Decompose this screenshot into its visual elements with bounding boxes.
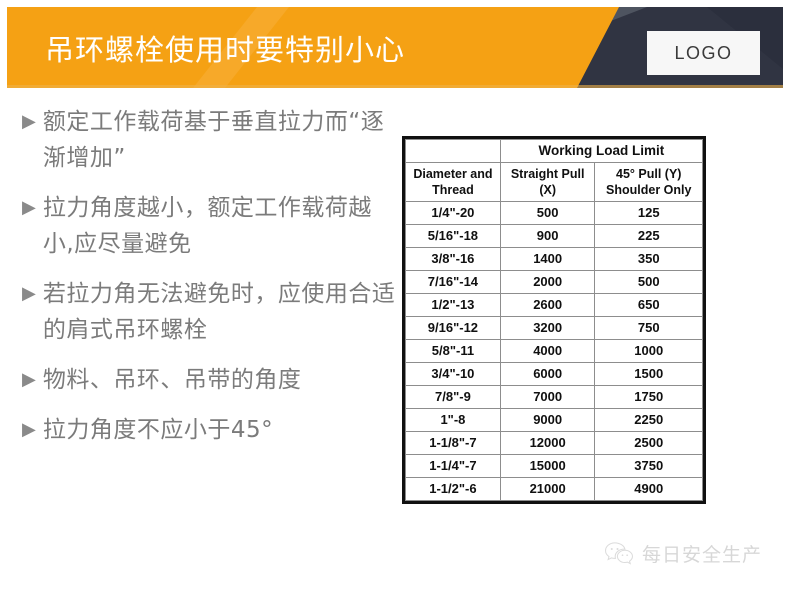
cell-straight-pull: 12000 [500,432,595,455]
table-group-header: Working Load Limit [500,140,702,163]
bullet-text: 若拉力角无法避免时，应使用合适的肩式吊环螺栓 [43,276,397,348]
table-row: 1-1/2"-6 21000 4900 [406,478,703,501]
cell-straight-pull: 900 [500,225,595,248]
cell-45-pull: 2250 [595,409,703,432]
table-row: 1-1/4"-7 15000 3750 [406,455,703,478]
table-row: 9/16"-12 3200 750 [406,317,703,340]
bullet-triangle-icon: ▶ [22,412,36,446]
cell-diameter: 3/8"-16 [406,248,501,271]
column-header-line: Thread [406,182,500,198]
list-item: ▶ 物料、吊环、吊带的角度 [22,362,397,398]
column-header-45-pull-shoulder: 45° Pull (Y) Shoulder Only [595,163,703,202]
bullet-text: 物料、吊环、吊带的角度 [43,362,397,398]
table-blank-cell [406,140,501,163]
cell-45-pull: 2500 [595,432,703,455]
cell-straight-pull: 21000 [500,478,595,501]
column-header-line: Straight Pull [501,166,595,182]
cell-45-pull: 650 [595,294,703,317]
bullet-text: 拉力角度越小，额定工作载荷越小,应尽量避免 [43,190,397,262]
logo-label: LOGO [674,43,732,64]
cell-diameter: 7/16"-14 [406,271,501,294]
cell-diameter: 3/4"-10 [406,363,501,386]
table-row: 5/8"-11 4000 1000 [406,340,703,363]
table-row: 3/8"-16 1400 350 [406,248,703,271]
table-row: 1/4"-20 500 125 [406,202,703,225]
cell-straight-pull: 3200 [500,317,595,340]
list-item: ▶ 额定工作载荷基于垂直拉力而“逐渐增加” [22,104,397,176]
column-header-line: Diameter and [406,166,500,182]
cell-diameter: 1-1/2"-6 [406,478,501,501]
table-row: 7/8"-9 7000 1750 [406,386,703,409]
table-column-header-row: Diameter and Thread Straight Pull (X) 45… [406,163,703,202]
bullet-triangle-icon: ▶ [22,362,36,396]
cell-straight-pull: 9000 [500,409,595,432]
cell-diameter: 1"-8 [406,409,501,432]
cell-diameter: 1-1/8"-7 [406,432,501,455]
slide-root: 吊环螺栓使用时要特别小心 LOGO ▶ 额定工作载荷基于垂直拉力而“逐渐增加” … [0,0,790,594]
table-row: 1"-8 9000 2250 [406,409,703,432]
cell-straight-pull: 7000 [500,386,595,409]
cell-diameter: 7/8"-9 [406,386,501,409]
header-banner: 吊环螺栓使用时要特别小心 LOGO [7,7,783,88]
cell-45-pull: 4900 [595,478,703,501]
list-item: ▶ 若拉力角无法避免时，应使用合适的肩式吊环螺栓 [22,276,397,348]
column-header-line: (X) [501,182,595,198]
cell-45-pull: 350 [595,248,703,271]
page-title: 吊环螺栓使用时要特别小心 [45,27,405,69]
cell-diameter: 1/2"-13 [406,294,501,317]
wechat-icon [604,541,634,567]
watermark-text: 每日安全生产 [642,540,762,567]
cell-45-pull: 1000 [595,340,703,363]
cell-45-pull: 500 [595,271,703,294]
bullet-triangle-icon: ▶ [22,104,36,138]
column-header-diameter-thread: Diameter and Thread [406,163,501,202]
cell-45-pull: 3750 [595,455,703,478]
footer-watermark: 每日安全生产 [604,540,762,567]
cell-straight-pull: 6000 [500,363,595,386]
cell-45-pull: 1500 [595,363,703,386]
cell-45-pull: 125 [595,202,703,225]
table-header: Working Load Limit Diameter and Thread S… [406,140,703,202]
table-row: 7/16"-14 2000 500 [406,271,703,294]
cell-diameter: 1-1/4"-7 [406,455,501,478]
cell-45-pull: 750 [595,317,703,340]
cell-45-pull: 1750 [595,386,703,409]
table-group-header-row: Working Load Limit [406,140,703,163]
cell-diameter: 5/16"-18 [406,225,501,248]
list-item: ▶ 拉力角度越小，额定工作载荷越小,应尽量避免 [22,190,397,262]
logo-badge[interactable]: LOGO [647,31,760,75]
cell-straight-pull: 2600 [500,294,595,317]
cell-straight-pull: 2000 [500,271,595,294]
cell-diameter: 9/16"-12 [406,317,501,340]
table-row: 1-1/8"-7 12000 2500 [406,432,703,455]
table-row: 1/2"-13 2600 650 [406,294,703,317]
column-header-line: 45° Pull (Y) [595,166,702,182]
cell-straight-pull: 15000 [500,455,595,478]
cell-straight-pull: 4000 [500,340,595,363]
bullet-triangle-icon: ▶ [22,276,36,310]
bullet-triangle-icon: ▶ [22,190,36,224]
cell-diameter: 1/4"-20 [406,202,501,225]
bullet-text: 拉力角度不应小于45° [43,412,397,448]
table-row: 5/16"-18 900 225 [406,225,703,248]
list-item: ▶ 拉力角度不应小于45° [22,412,397,448]
cell-diameter: 5/8"-11 [406,340,501,363]
bullet-list: ▶ 额定工作载荷基于垂直拉力而“逐渐增加” ▶ 拉力角度越小，额定工作载荷越小,… [22,104,397,462]
cell-straight-pull: 500 [500,202,595,225]
working-load-limit-table: Working Load Limit Diameter and Thread S… [402,136,706,504]
column-header-straight-pull: Straight Pull (X) [500,163,595,202]
cell-45-pull: 225 [595,225,703,248]
table-row: 3/4"-10 6000 1500 [406,363,703,386]
bullet-text: 额定工作载荷基于垂直拉力而“逐渐增加” [43,104,397,176]
column-header-line: Shoulder Only [595,182,702,198]
table-body: 1/4"-20 500 125 5/16"-18 900 225 3/8"-16… [406,202,703,501]
cell-straight-pull: 1400 [500,248,595,271]
